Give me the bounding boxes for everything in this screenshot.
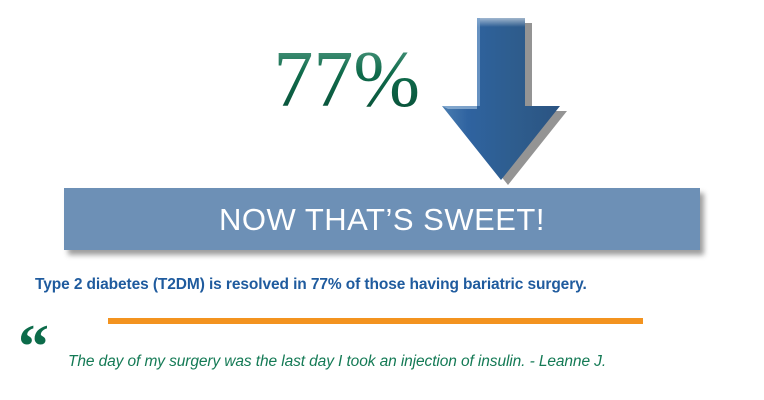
- percent-statistic-heading: 77%: [200, 38, 420, 122]
- testimonial-quote-text: The day of my surgery was the last day I…: [68, 352, 758, 372]
- orange-divider-rule: [108, 318, 643, 324]
- headline-banner: NOW THAT’S SWEET!: [64, 188, 700, 250]
- infographic-slide: 77%: [0, 0, 764, 400]
- quotation-mark-icon: “: [18, 316, 47, 378]
- banner-headline-text: NOW THAT’S SWEET!: [219, 204, 545, 235]
- down-arrow-icon: [437, 8, 572, 188]
- statistic-caption: Type 2 diabetes (T2DM) is resolved in 77…: [35, 275, 735, 295]
